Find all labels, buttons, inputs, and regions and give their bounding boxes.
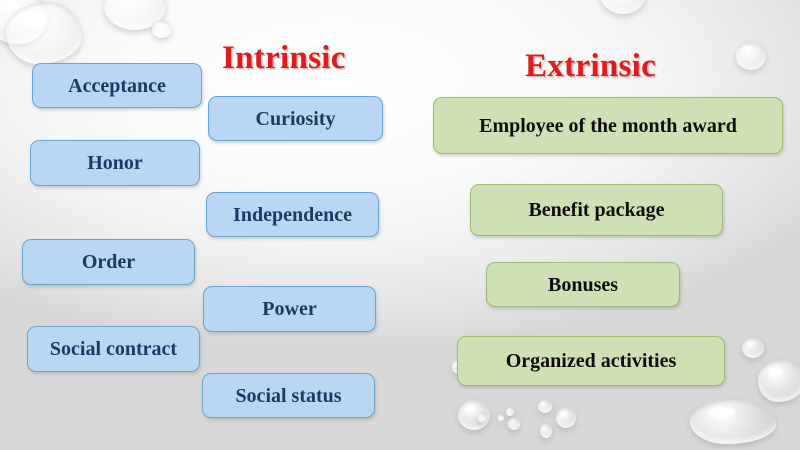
intrinsic-box-label: Acceptance xyxy=(68,76,166,96)
extrinsic-box-organized-activities[interactable]: Organized activities xyxy=(457,336,725,386)
intrinsic-box-curiosity[interactable]: Curiosity xyxy=(208,96,383,141)
water-drop-icon xyxy=(508,418,520,430)
extrinsic-box-benefit-package[interactable]: Benefit package xyxy=(470,184,723,236)
water-drop-icon xyxy=(736,42,766,70)
water-drop-icon xyxy=(0,0,48,44)
heading-intrinsic: Intrinsic xyxy=(222,40,346,77)
water-drop-icon xyxy=(104,0,166,30)
heading-extrinsic: Extrinsic xyxy=(525,48,656,85)
water-drop-icon xyxy=(690,400,776,444)
extrinsic-box-label: Bonuses xyxy=(548,275,618,295)
intrinsic-box-honor[interactable]: Honor xyxy=(30,140,200,186)
water-drop-icon xyxy=(6,2,82,64)
water-drop-icon xyxy=(458,400,490,430)
water-drop-icon xyxy=(498,415,504,421)
intrinsic-box-power[interactable]: Power xyxy=(203,286,376,332)
intrinsic-box-label: Order xyxy=(82,252,135,272)
extrinsic-box-label: Employee of the month award xyxy=(479,116,737,136)
intrinsic-box-acceptance[interactable]: Acceptance xyxy=(32,63,202,108)
intrinsic-box-order[interactable]: Order xyxy=(22,239,195,285)
extrinsic-box-employee-of-the-month-award[interactable]: Employee of the month award xyxy=(433,97,783,154)
water-drop-icon xyxy=(600,0,646,14)
intrinsic-box-label: Independence xyxy=(233,205,352,225)
intrinsic-box-label: Social status xyxy=(235,386,341,406)
intrinsic-box-label: Honor xyxy=(87,153,143,173)
water-drop-icon xyxy=(478,414,486,422)
intrinsic-box-label: Curiosity xyxy=(256,109,336,129)
slide-canvas: Intrinsic Extrinsic Acceptance Curiosity… xyxy=(0,0,800,450)
extrinsic-box-label: Benefit package xyxy=(528,200,664,220)
intrinsic-box-social-contract[interactable]: Social contract xyxy=(27,326,200,372)
extrinsic-box-bonuses[interactable]: Bonuses xyxy=(486,262,680,307)
water-drop-icon xyxy=(742,338,764,358)
intrinsic-box-social-status[interactable]: Social status xyxy=(202,373,375,418)
water-drop-icon xyxy=(506,408,514,416)
water-drop-icon xyxy=(556,408,576,428)
intrinsic-box-independence[interactable]: Independence xyxy=(206,192,379,237)
water-drop-icon xyxy=(538,400,552,413)
extrinsic-box-label: Organized activities xyxy=(506,351,677,371)
water-drop-icon xyxy=(152,20,172,38)
water-drop-icon xyxy=(540,424,552,438)
intrinsic-box-label: Social contract xyxy=(50,339,177,359)
water-drop-icon xyxy=(758,360,800,402)
intrinsic-box-label: Power xyxy=(262,299,316,319)
